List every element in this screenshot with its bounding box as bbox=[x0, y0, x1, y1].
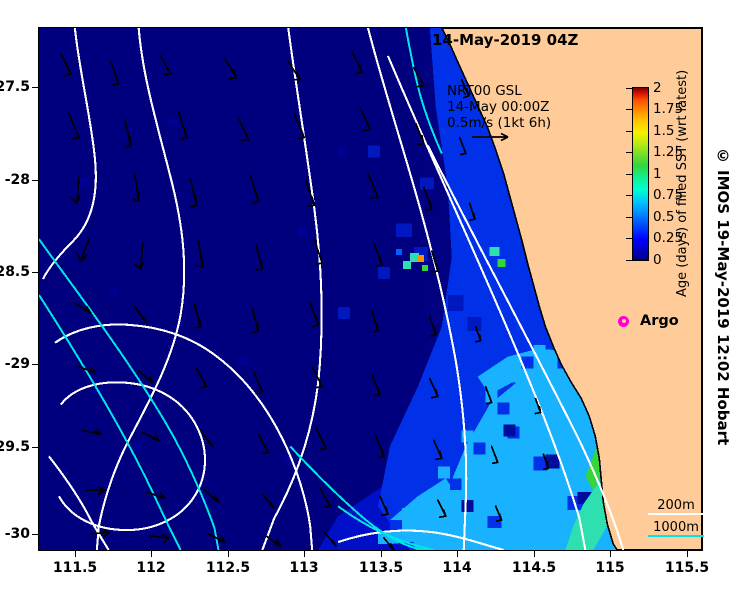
argo-legend-label: Argo bbox=[640, 313, 679, 329]
colorbar-tick bbox=[626, 217, 632, 218]
y-tick bbox=[32, 180, 38, 181]
x-axis-label: 115 bbox=[595, 560, 624, 576]
annotation-speed-scale: 0.5m/s (1kt 6h) bbox=[447, 115, 551, 131]
y-axis-label: -30 bbox=[5, 526, 30, 542]
x-axis-label: 113.5 bbox=[359, 560, 403, 576]
argo-float-icon bbox=[618, 316, 629, 327]
colorbar-tick bbox=[626, 238, 632, 239]
x-axis-label: 112.5 bbox=[206, 560, 250, 576]
x-axis-label: 114.5 bbox=[512, 560, 556, 576]
y-tick bbox=[32, 534, 38, 535]
sst-age-field bbox=[39, 28, 702, 550]
bathy-1000m-entry: 1000m bbox=[648, 520, 704, 540]
colorbar-tick bbox=[626, 174, 632, 175]
bathy-1000m-line-icon bbox=[648, 535, 704, 537]
x-tick bbox=[151, 551, 152, 557]
colorbar-tick bbox=[626, 152, 632, 153]
y-axis-label: -29 bbox=[5, 356, 30, 372]
bathy-200m-label: 200m bbox=[648, 498, 704, 513]
colorbar-label: 2 bbox=[653, 80, 662, 96]
x-tick bbox=[610, 551, 611, 557]
colorbar-tick bbox=[626, 195, 632, 196]
x-tick bbox=[687, 551, 688, 557]
x-axis-label: 112 bbox=[136, 560, 165, 576]
model-annotation-block: NRT00 GSL 14-May 00:00Z 0.5m/s (1kt 6h) bbox=[447, 83, 551, 131]
credit-text: © IMOS 19-May-2019 12:02 Hobart bbox=[714, 147, 732, 445]
bathy-200m-line-icon bbox=[648, 513, 704, 515]
colorbar[interactable] bbox=[632, 87, 649, 261]
bathy-200m-entry: 200m bbox=[648, 498, 704, 518]
y-axis-label: -27.5 bbox=[0, 79, 30, 95]
y-tick bbox=[32, 447, 38, 448]
x-axis-label: 115.5 bbox=[665, 560, 709, 576]
y-tick bbox=[32, 364, 38, 365]
y-axis-label: -28.5 bbox=[0, 264, 30, 280]
reference-vector-arrow-icon bbox=[470, 131, 516, 143]
colorbar-title: Age (days) of filled SST (wrt latest) bbox=[672, 88, 690, 278]
colorbar-label: 1 bbox=[653, 166, 662, 182]
annotation-model: NRT00 GSL bbox=[447, 83, 551, 99]
x-tick bbox=[75, 551, 76, 557]
x-tick bbox=[304, 551, 305, 557]
colorbar-tick bbox=[626, 260, 632, 261]
colorbar-tick bbox=[626, 88, 632, 89]
x-tick bbox=[381, 551, 382, 557]
x-axis-label: 114 bbox=[442, 560, 471, 576]
bathy-1000m-label: 1000m bbox=[648, 520, 704, 535]
colorbar-tick bbox=[626, 109, 632, 110]
x-axis-label: 113 bbox=[289, 560, 318, 576]
map-plot-area[interactable] bbox=[38, 27, 703, 551]
y-tick bbox=[32, 272, 38, 273]
x-tick bbox=[228, 551, 229, 557]
x-tick bbox=[457, 551, 458, 557]
colorbar-label: 0 bbox=[653, 252, 662, 268]
colorbar-tick bbox=[626, 131, 632, 132]
argo-legend[interactable]: Argo bbox=[618, 313, 679, 329]
bathymetry-legend: 200m 1000m bbox=[648, 498, 704, 542]
x-axis-label: 111.5 bbox=[53, 560, 97, 576]
plot-title: 14-May-2019 04Z bbox=[432, 31, 578, 49]
annotation-time: 14-May 00:00Z bbox=[447, 99, 551, 115]
y-axis-label: -29.5 bbox=[0, 439, 30, 455]
x-tick bbox=[534, 551, 535, 557]
y-tick bbox=[32, 87, 38, 88]
y-axis-label: -28 bbox=[5, 172, 30, 188]
